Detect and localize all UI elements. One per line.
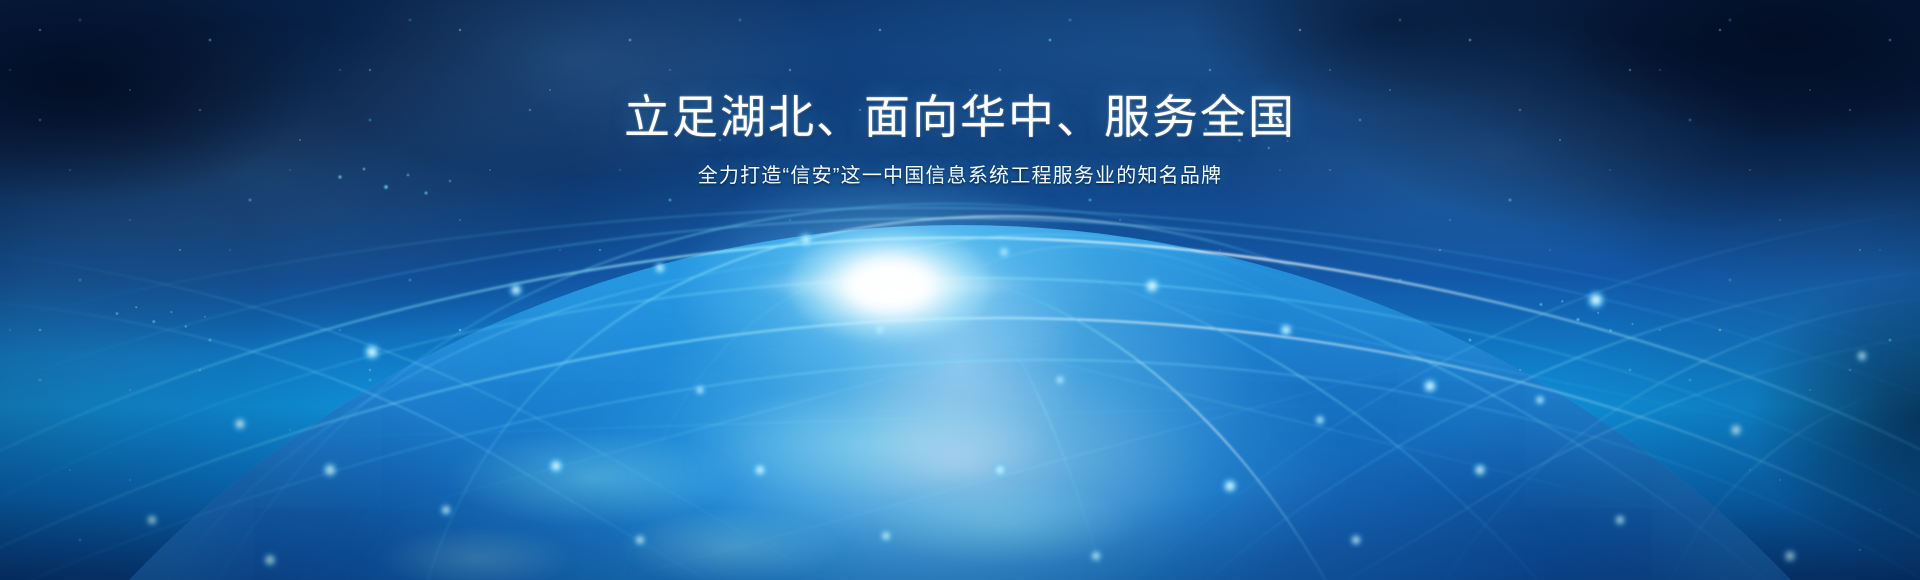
hero-banner: 立足湖北、面向华中、服务全国 全力打造“信安”这一中国信息系统工程服务业的知名品… xyxy=(0,0,1920,580)
banner-headline: 立足湖北、面向华中、服务全国 xyxy=(0,88,1920,146)
banner-subheadline: 全力打造“信安”这一中国信息系统工程服务业的知名品牌 xyxy=(0,162,1920,190)
banner-copy: 立足湖北、面向华中、服务全国 全力打造“信安”这一中国信息系统工程服务业的知名品… xyxy=(0,88,1920,190)
burst-core xyxy=(847,261,933,309)
